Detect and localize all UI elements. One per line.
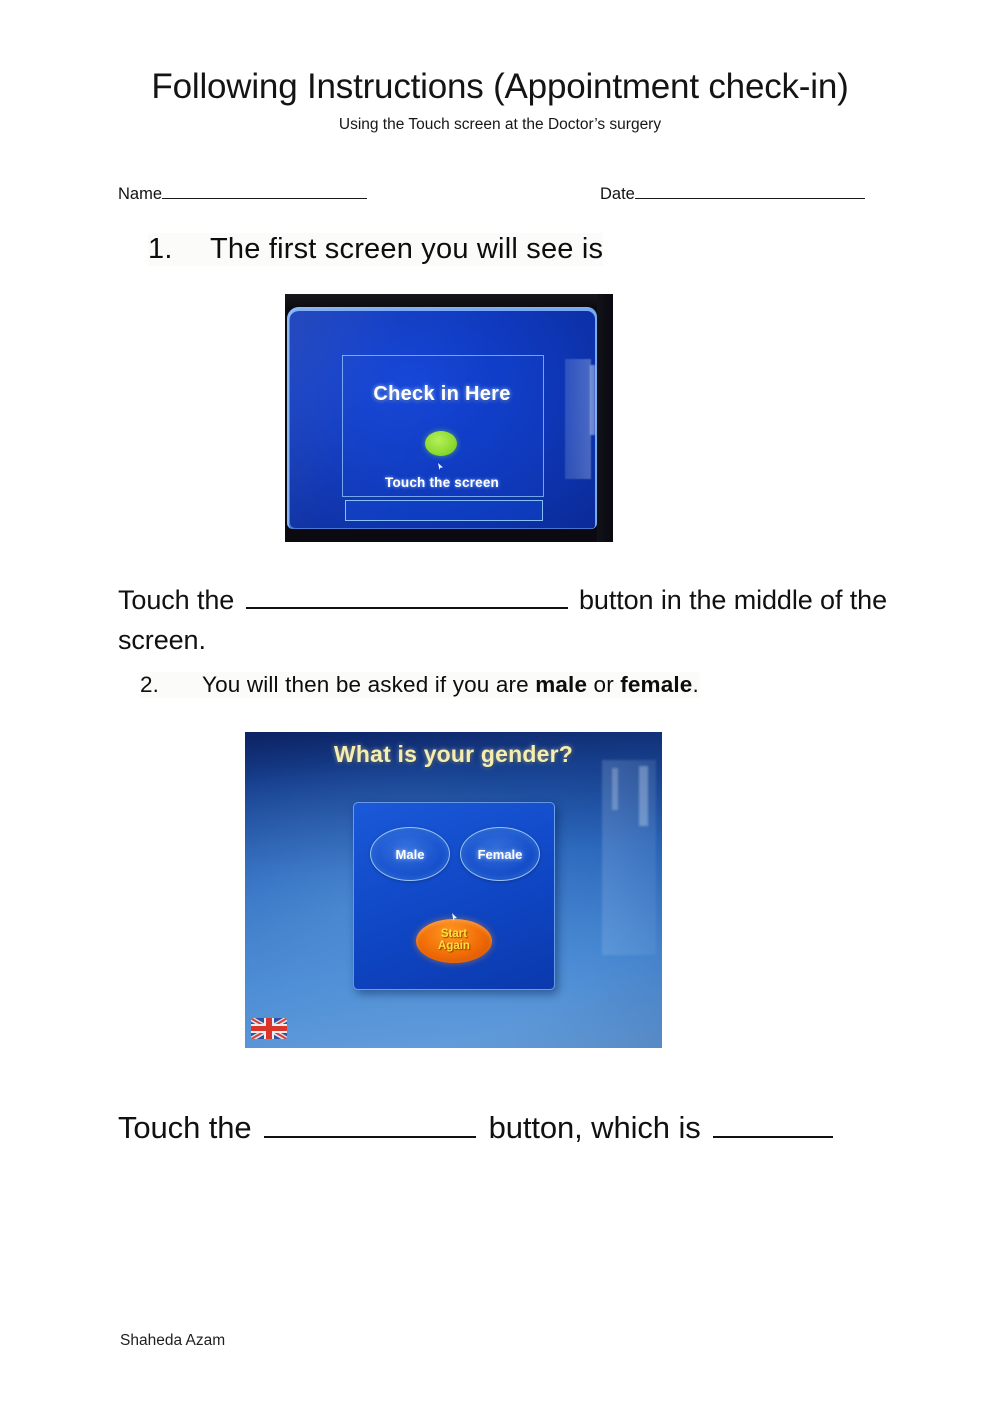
item-1-number: 1. xyxy=(148,233,210,266)
start-again-button[interactable]: Start Again xyxy=(416,919,492,963)
gender-heading: What is your gender? xyxy=(245,741,662,768)
male-option-label: Male xyxy=(396,847,425,862)
sentence-2-part-1: Touch the xyxy=(118,1110,252,1145)
item-2-text: You will then be asked if you are male o… xyxy=(202,672,699,698)
worksheet-page: Following Instructions (Appointment chec… xyxy=(0,0,1000,1413)
photo-gender-screen: What is your gender? Male Female Start A… xyxy=(245,732,662,1048)
checkin-heading: Check in Here xyxy=(287,383,597,406)
item-2-text-before: You will then be asked if you are xyxy=(202,672,535,697)
touch-screen-prompt: Touch the screen xyxy=(287,475,597,490)
page-title: Following Instructions (Appointment chec… xyxy=(0,68,1000,107)
monitor-bezel-top xyxy=(285,294,613,307)
start-again-line-2: Again xyxy=(438,941,470,953)
male-option-button[interactable]: Male xyxy=(370,827,450,881)
union-jack-flag-icon[interactable] xyxy=(251,1018,287,1039)
instruction-item-2: 2.You will then be asked if you are male… xyxy=(140,672,699,698)
screen-reflection-streak-2 xyxy=(612,768,618,810)
item-2-text-middle: or xyxy=(587,672,620,697)
sentence-2-part-2: button, which is xyxy=(489,1110,701,1145)
screen-reflection-streak xyxy=(590,365,595,435)
instruction-item-1: 1.The first screen you will see is xyxy=(148,233,603,266)
gender-options-panel: Male Female Start Again xyxy=(353,802,555,990)
name-label: Name xyxy=(118,185,162,204)
screen-reflection-streak-1 xyxy=(639,766,648,826)
screen-reflection xyxy=(565,359,591,479)
sentence-1-part-1: Touch the xyxy=(118,585,234,615)
item-2-bold-male: male xyxy=(535,672,587,697)
item-2-bold-female: female xyxy=(620,672,692,697)
item-2-text-after: . xyxy=(692,672,698,697)
fill-in-sentence-1: Touch the button in the middle of the sc… xyxy=(118,580,908,660)
photo-checkin-screen: Check in Here Touch the screen xyxy=(285,294,613,542)
female-option-button[interactable]: Female xyxy=(460,827,540,881)
name-write-line[interactable] xyxy=(162,184,367,199)
footer-author: Shaheda Azam xyxy=(120,1332,225,1350)
item-2-number: 2. xyxy=(140,672,202,698)
kiosk-display: Check in Here Touch the screen xyxy=(287,307,597,529)
flag-cross-red-vertical xyxy=(266,1018,272,1039)
display-bottom-bar xyxy=(345,500,543,521)
female-option-label: Female xyxy=(478,847,523,862)
green-checkin-button[interactable] xyxy=(425,431,457,456)
item-1-text: The first screen you will see is xyxy=(210,233,603,266)
page-subtitle: Using the Touch screen at the Doctor’s s… xyxy=(0,116,1000,134)
date-label: Date xyxy=(600,185,635,204)
monitor-bezel-right xyxy=(597,294,613,542)
sentence-2-blank-2[interactable] xyxy=(713,1115,833,1138)
date-field[interactable]: Date xyxy=(600,184,865,204)
fill-in-sentence-2: Touch the button, which is xyxy=(118,1108,918,1148)
name-date-row: Name Date xyxy=(118,184,878,210)
date-write-line[interactable] xyxy=(635,184,865,199)
sentence-2-blank-1[interactable] xyxy=(264,1115,476,1138)
sentence-1-blank[interactable] xyxy=(246,586,568,609)
name-field[interactable]: Name xyxy=(118,184,367,204)
